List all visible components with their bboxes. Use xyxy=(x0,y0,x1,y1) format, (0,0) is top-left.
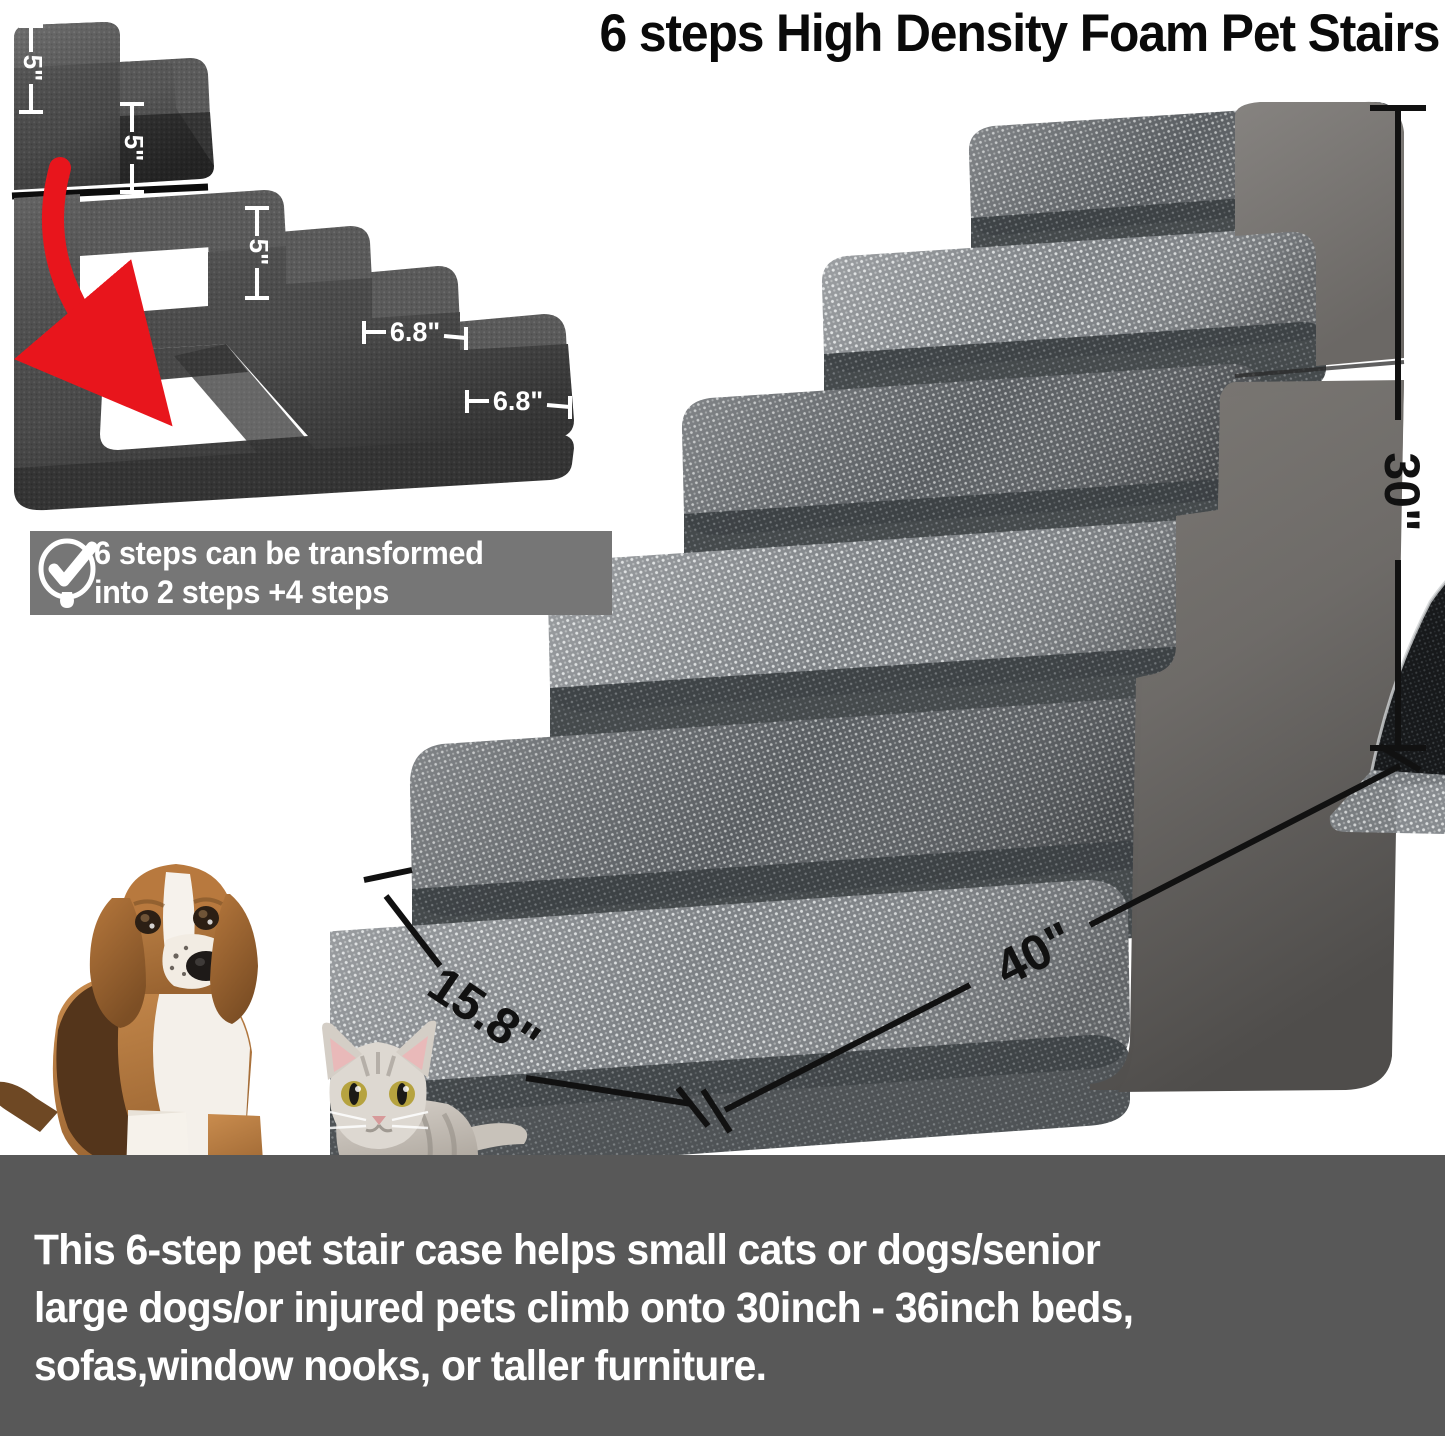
dimension-label-30in: 30" xyxy=(1374,452,1430,531)
transform-feature-badge: 6 steps can be transformed into 2 steps … xyxy=(30,531,612,615)
dog-beagle xyxy=(0,864,264,1200)
badge-line-1: 6 steps can be transformed xyxy=(94,534,484,573)
pets-photo-group xyxy=(0,780,560,1200)
inset-dimension-label-5in-2: 5" xyxy=(119,135,149,162)
dog-eye-right xyxy=(193,906,219,930)
badge-line-2: into 2 steps +4 steps xyxy=(94,573,484,612)
caption-line-1: This 6-step pet stair case helps small c… xyxy=(34,1221,1348,1279)
caption-line-3: sofas,window nooks, or taller furniture. xyxy=(34,1337,1348,1395)
dog-eye-left xyxy=(135,910,161,934)
page-title: 6 steps High Density Foam Pet Stairs xyxy=(87,0,1445,66)
inset-dimension-label-68in-2: 6.8" xyxy=(493,386,543,416)
check-circle-icon xyxy=(36,538,98,608)
inset-dimension-label-5in-1: 5" xyxy=(18,55,48,82)
inset-transformable-stairs: 5" 5" 5" xyxy=(8,16,648,516)
caption-line-2: large dogs/or injured pets climb onto 30… xyxy=(34,1279,1348,1337)
inset-dimension-label-5in-3: 5" xyxy=(244,239,274,266)
badge-text-block: 6 steps can be transformed into 2 steps … xyxy=(94,534,484,612)
bottom-caption-bar: This 6-step pet stair case helps small c… xyxy=(0,1155,1445,1436)
infographic-canvas: 6 steps High Density Foam Pet Stairs xyxy=(0,0,1445,1436)
inset-dimension-label-68in-1: 6.8" xyxy=(390,317,440,347)
